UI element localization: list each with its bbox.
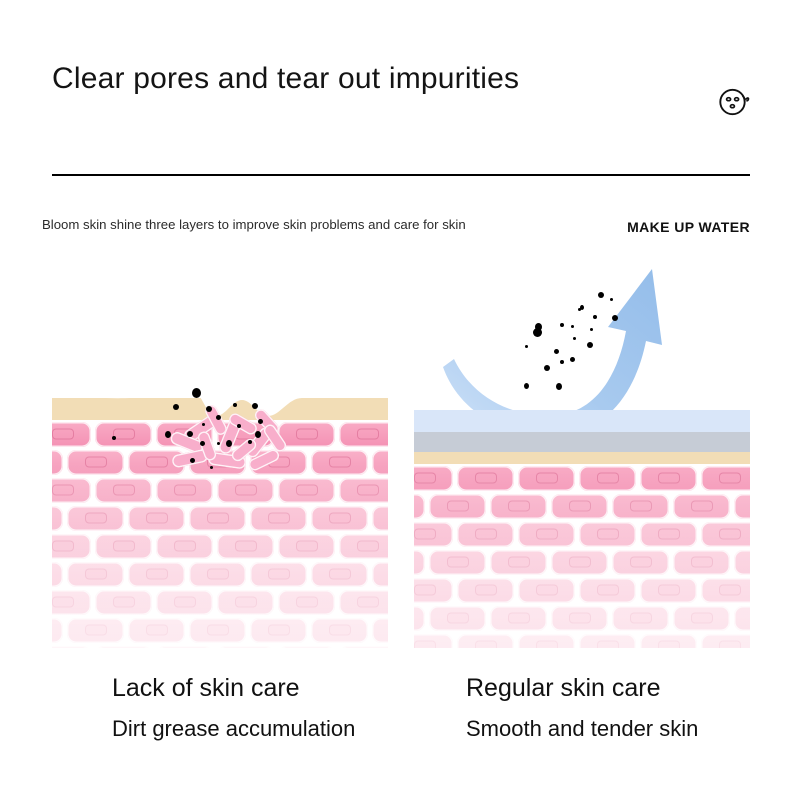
- cell-nucleus: [658, 473, 680, 484]
- cell-nucleus: [536, 473, 558, 484]
- dirt-particle: [255, 431, 261, 438]
- skin-cell: [612, 606, 669, 631]
- cell-nucleus: [113, 597, 135, 608]
- cell-nucleus: [207, 569, 229, 580]
- cell-nucleus: [329, 625, 351, 636]
- cell-nucleus: [357, 541, 379, 552]
- dirt-particle: [226, 440, 232, 447]
- skin-cell-row: [52, 532, 388, 560]
- skin-cell: [518, 522, 575, 547]
- caption-title: Regular skin care: [466, 673, 698, 704]
- pore-skin-icon: [716, 84, 752, 120]
- skin-cell-grid: [414, 464, 750, 648]
- cell-nucleus: [630, 613, 652, 624]
- skin-cell: [429, 494, 486, 519]
- skin-cell: [250, 618, 307, 643]
- skin-cell: [67, 618, 124, 643]
- cell-nucleus: [235, 597, 257, 608]
- cell-nucleus: [658, 529, 680, 540]
- skin-cell: [311, 618, 368, 643]
- cell-nucleus: [658, 585, 680, 596]
- dirt-particle: [571, 325, 574, 328]
- skin-cell-row: [414, 576, 750, 604]
- dirt-particle: [533, 328, 542, 337]
- dirt-particle: [206, 406, 212, 412]
- cell-nucleus: [508, 557, 530, 568]
- skin-cell: [551, 606, 608, 631]
- skin-cell-row: [414, 548, 750, 576]
- skin-cell: [95, 590, 152, 615]
- skin-cell: [339, 646, 388, 649]
- skin-cell: [551, 550, 608, 575]
- dirt-particle: [578, 308, 581, 311]
- skin-cell-row: [414, 604, 750, 632]
- skin-cell: [217, 646, 274, 649]
- cell-nucleus: [52, 597, 74, 608]
- cell-nucleus: [174, 597, 196, 608]
- skin-cell: [52, 534, 91, 559]
- dirt-particle: [612, 315, 618, 321]
- skin-cell: [95, 534, 152, 559]
- skin-cell: [640, 578, 697, 603]
- caption-title: Lack of skin care: [112, 673, 355, 704]
- skin-cell: [217, 534, 274, 559]
- skin-cell: [701, 634, 750, 649]
- skin-cell: [640, 522, 697, 547]
- skin-cell: [457, 578, 514, 603]
- skin-cell: [52, 646, 91, 649]
- skin-cell: [579, 466, 636, 491]
- cell-nucleus: [268, 625, 290, 636]
- cell-nucleus: [597, 641, 619, 649]
- skin-cell: [52, 562, 63, 587]
- skin-cell: [250, 562, 307, 587]
- skin-cell-row: [414, 492, 750, 520]
- skin-cell: [414, 634, 453, 649]
- cell-nucleus: [691, 501, 713, 512]
- cell-nucleus: [475, 641, 497, 649]
- cell-nucleus: [357, 597, 379, 608]
- dirt-particle: [570, 357, 575, 362]
- cell-nucleus: [630, 557, 652, 568]
- skin-cell: [579, 634, 636, 649]
- skin-cell: [518, 634, 575, 649]
- dirt-particle: [190, 458, 195, 463]
- skin-cell: [414, 606, 425, 631]
- skin-cell: [673, 494, 730, 519]
- skin-cell-row: [52, 644, 388, 648]
- skin-cell-row: [414, 632, 750, 648]
- skin-cell: [95, 646, 152, 649]
- skin-cell: [551, 494, 608, 519]
- skin-barrier-layer: [414, 432, 750, 452]
- cell-nucleus: [414, 641, 436, 649]
- dirt-particle: [210, 466, 213, 469]
- skin-cell-row: [52, 616, 388, 644]
- skin-cell: [372, 618, 388, 643]
- skin-cell: [414, 466, 453, 491]
- cell-nucleus: [447, 501, 469, 512]
- cell-nucleus: [146, 569, 168, 580]
- cell-nucleus: [569, 613, 591, 624]
- skin-cell: [339, 590, 388, 615]
- dirt-particle: [216, 415, 221, 420]
- skin-cell: [518, 578, 575, 603]
- cell-nucleus: [508, 501, 530, 512]
- disordered-cell-cluster: [52, 370, 388, 510]
- hydration-serum-layer: [414, 410, 750, 432]
- skin-cell: [640, 466, 697, 491]
- cell-nucleus: [597, 585, 619, 596]
- dirt-particle: [233, 403, 237, 407]
- skin-cell: [189, 618, 246, 643]
- cell-nucleus: [719, 529, 741, 540]
- skin-cell: [429, 550, 486, 575]
- skin-cell: [217, 590, 274, 615]
- skin-cell: [52, 618, 63, 643]
- skin-cell: [457, 466, 514, 491]
- skin-cell-row: [414, 464, 750, 492]
- subtitle-text: Bloom skin shine three layers to improve…: [42, 217, 466, 232]
- cell-nucleus: [268, 513, 290, 524]
- skin-cell: [278, 534, 335, 559]
- caption-subtitle: Smooth and tender skin: [466, 715, 698, 743]
- dirt-particle: [610, 298, 613, 301]
- cell-nucleus: [508, 613, 530, 624]
- cell-nucleus: [475, 473, 497, 484]
- page-title: Clear pores and tear out impurities: [52, 62, 519, 96]
- skin-cell: [457, 522, 514, 547]
- cell-nucleus: [296, 597, 318, 608]
- cell-nucleus: [414, 529, 436, 540]
- skin-cell: [701, 522, 750, 547]
- skin-cell: [414, 494, 425, 519]
- stratum-corneum-layer: [414, 452, 750, 464]
- skin-cell-row: [52, 588, 388, 616]
- dirt-particle: [560, 323, 564, 327]
- skin-cell-row: [52, 560, 388, 588]
- skin-cell: [372, 562, 388, 587]
- skin-cell: [612, 550, 669, 575]
- dirt-particle: [202, 423, 205, 426]
- skin-cell: [339, 534, 388, 559]
- skin-cell: [701, 466, 750, 491]
- cell-nucleus: [569, 501, 591, 512]
- cell-nucleus: [691, 557, 713, 568]
- skin-cell: [52, 590, 91, 615]
- dirt-particle: [252, 403, 258, 409]
- cell-nucleus: [207, 513, 229, 524]
- skin-cell: [156, 646, 213, 649]
- cell-nucleus: [329, 513, 351, 524]
- dirt-particle: [525, 345, 528, 348]
- skin-cell: [579, 522, 636, 547]
- skin-cell: [311, 562, 368, 587]
- skin-panel-regular-care: [414, 370, 750, 648]
- skin-cell: [128, 618, 185, 643]
- skin-cell: [156, 590, 213, 615]
- skin-cell: [414, 522, 453, 547]
- cell-nucleus: [719, 473, 741, 484]
- dirt-particle: [560, 360, 564, 364]
- cell-nucleus: [146, 513, 168, 524]
- skin-cell: [278, 590, 335, 615]
- cell-nucleus: [475, 585, 497, 596]
- skin-cell: [673, 606, 730, 631]
- dirt-particle: [587, 342, 593, 348]
- dirt-particle: [590, 328, 593, 331]
- skin-cell: [673, 550, 730, 575]
- skin-cell: [701, 578, 750, 603]
- skin-cell-row: [414, 520, 750, 548]
- cell-nucleus: [414, 585, 436, 596]
- cell-nucleus: [52, 541, 74, 552]
- dirt-particle: [112, 436, 116, 440]
- skin-cell: [67, 562, 124, 587]
- cell-nucleus: [630, 501, 652, 512]
- skin-cell: [640, 634, 697, 649]
- skin-panel-lack-of-care: [52, 370, 388, 648]
- cell-nucleus: [85, 513, 107, 524]
- skin-cell: [579, 578, 636, 603]
- cell-nucleus: [597, 473, 619, 484]
- dirt-particle: [554, 349, 559, 354]
- dirt-particle: [192, 388, 201, 398]
- skin-cell: [457, 634, 514, 649]
- skin-cell: [612, 494, 669, 519]
- cell-nucleus: [536, 529, 558, 540]
- cell-nucleus: [296, 541, 318, 552]
- skin-cell: [490, 606, 547, 631]
- dirt-particle: [593, 315, 597, 319]
- cell-nucleus: [691, 613, 713, 624]
- skin-cell: [734, 550, 750, 575]
- cell-nucleus: [719, 585, 741, 596]
- cell-nucleus: [447, 557, 469, 568]
- cell-nucleus: [475, 529, 497, 540]
- cell-nucleus: [447, 613, 469, 624]
- cell-nucleus: [658, 641, 680, 649]
- header-divider: [52, 174, 750, 176]
- dirt-particle: [187, 431, 193, 437]
- skin-cell: [156, 534, 213, 559]
- dirt-particle: [200, 441, 205, 446]
- skin-cell: [490, 550, 547, 575]
- cell-nucleus: [113, 541, 135, 552]
- skin-cell: [414, 550, 425, 575]
- makeup-water-label: MAKE UP WATER: [627, 219, 750, 235]
- dirt-particle: [598, 292, 604, 298]
- caption-regular-skin-care: Regular skin care Smooth and tender skin: [472, 673, 698, 743]
- cell-nucleus: [597, 529, 619, 540]
- caption-lack-of-skin-care: Lack of skin care Dirt grease accumulati…: [112, 673, 355, 743]
- skin-cell: [414, 578, 453, 603]
- dirt-particle: [248, 440, 252, 444]
- skin-cell: [278, 646, 335, 649]
- cell-nucleus: [268, 569, 290, 580]
- cell-nucleus: [207, 625, 229, 636]
- cell-nucleus: [174, 541, 196, 552]
- cell-nucleus: [146, 625, 168, 636]
- cell-nucleus: [719, 641, 741, 649]
- cell-nucleus: [85, 569, 107, 580]
- skin-cell: [734, 494, 750, 519]
- cell-nucleus: [414, 473, 436, 484]
- skin-cell: [189, 562, 246, 587]
- cell-nucleus: [536, 641, 558, 649]
- dirt-particle: [173, 404, 179, 410]
- skin-cell: [429, 606, 486, 631]
- skin-cell: [734, 606, 750, 631]
- dirt-particle: [237, 424, 241, 428]
- skin-cell: [490, 494, 547, 519]
- dirt-particle: [217, 442, 220, 445]
- cell-nucleus: [235, 541, 257, 552]
- cell-nucleus: [569, 557, 591, 568]
- cell-nucleus: [536, 585, 558, 596]
- dirt-particle: [258, 419, 263, 424]
- cell-nucleus: [85, 625, 107, 636]
- caption-subtitle: Dirt grease accumulation: [112, 715, 355, 743]
- cell-nucleus: [329, 569, 351, 580]
- skin-cell: [128, 562, 185, 587]
- skin-cell: [518, 466, 575, 491]
- dirt-particle: [165, 431, 171, 438]
- dirt-particle: [573, 337, 576, 340]
